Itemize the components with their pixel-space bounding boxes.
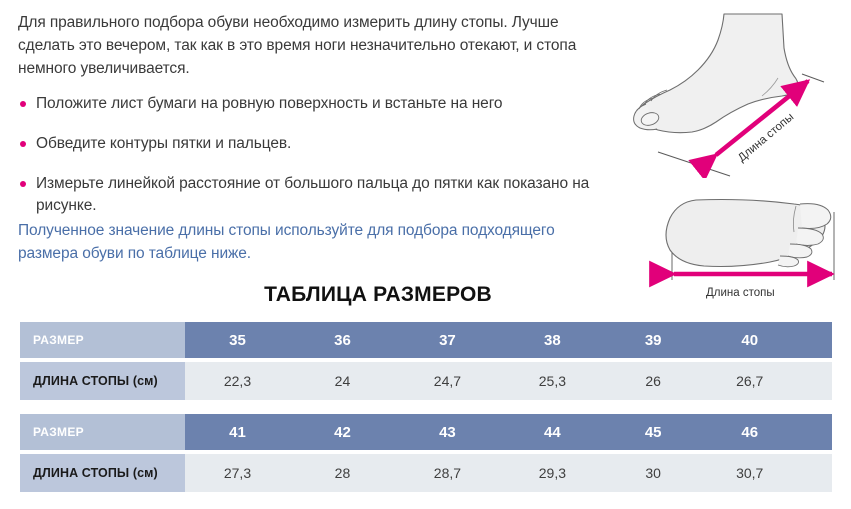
table-cell-length: 24: [290, 362, 395, 400]
table-row: ДЛИНА СТОПЫ (см) 27,3 28 28,7 29,3 30 30…: [20, 454, 832, 492]
table-cell-length: 28: [290, 454, 395, 492]
table-edge-filler: [798, 454, 832, 492]
note-text: Полученное значение длины стопы использу…: [18, 219, 618, 265]
table-cell-length: 22,3: [185, 362, 290, 400]
table-cell-length: 27,3: [185, 454, 290, 492]
table-row: РАЗМЕР 35 36 37 38 39 40: [20, 322, 832, 358]
row-label-length: ДЛИНА СТОПЫ (см): [20, 454, 185, 492]
bullet-dot-icon: [20, 141, 26, 147]
intro-paragraph: Для правильного подбора обуви необходимо…: [18, 11, 606, 80]
bullet-dot-icon: [20, 101, 26, 107]
table-cell-size: 45: [605, 414, 702, 450]
foot-side-view-illustration: Длина стопы: [612, 0, 851, 178]
table-cell-size: 43: [395, 414, 500, 450]
row-label-length: ДЛИНА СТОПЫ (см): [20, 362, 185, 400]
row-label-size: РАЗМЕР: [20, 414, 185, 450]
table-cell-size: 42: [290, 414, 395, 450]
table-edge-filler: [798, 414, 832, 450]
size-table-block-1: РАЗМЕР 35 36 37 38 39 40 ДЛИНА СТОПЫ (см…: [20, 322, 832, 400]
table-cell-length: 26,7: [701, 362, 798, 400]
table-cell-size: 36: [290, 322, 395, 358]
table-cell-size: 39: [605, 322, 702, 358]
table-cell-size: 46: [701, 414, 798, 450]
table-cell-size: 40: [701, 322, 798, 358]
table-cell-length: 25,3: [500, 362, 605, 400]
table-edge-filler: [798, 322, 832, 358]
table-cell-length: 30,7: [701, 454, 798, 492]
table-cell-size: 44: [500, 414, 605, 450]
table-cell-size: 35: [185, 322, 290, 358]
bullet-dot-icon: [20, 181, 26, 187]
list-item-text: Обведите контуры пятки и пальцев.: [36, 135, 291, 152]
list-item-text: Положите лист бумаги на ровную поверхнос…: [36, 95, 502, 112]
list-item-text: Измерьте линейкой расстояние от большого…: [36, 175, 589, 214]
page-title: ТАБЛИЦА РАЗМЕРОВ: [0, 283, 756, 307]
table-row: РАЗМЕР 41 42 43 44 45 46: [20, 414, 832, 450]
table-row: ДЛИНА СТОПЫ (см) 22,3 24 24,7 25,3 26 26…: [20, 362, 832, 400]
row-label-size: РАЗМЕР: [20, 322, 185, 358]
table-cell-length: 26: [605, 362, 702, 400]
table-cell-length: 28,7: [395, 454, 500, 492]
list-item: Измерьте линейкой расстояние от большого…: [18, 173, 596, 217]
size-table-block-2: РАЗМЕР 41 42 43 44 45 46 ДЛИНА СТОПЫ (см…: [20, 414, 832, 492]
table-edge-filler: [798, 362, 832, 400]
table-cell-length: 29,3: [500, 454, 605, 492]
table-cell-length: 24,7: [395, 362, 500, 400]
list-item: Положите лист бумаги на ровную поверхнос…: [18, 93, 596, 115]
table-cell-length: 30: [605, 454, 702, 492]
table-cell-size: 37: [395, 322, 500, 358]
steps-list: Положите лист бумаги на ровную поверхнос…: [18, 93, 596, 217]
side-view-caption-text: Длина стопы: [736, 111, 796, 164]
table-cell-size: 41: [185, 414, 290, 450]
list-item: Обведите контуры пятки и пальцев.: [18, 133, 596, 155]
table-cell-size: 38: [500, 322, 605, 358]
